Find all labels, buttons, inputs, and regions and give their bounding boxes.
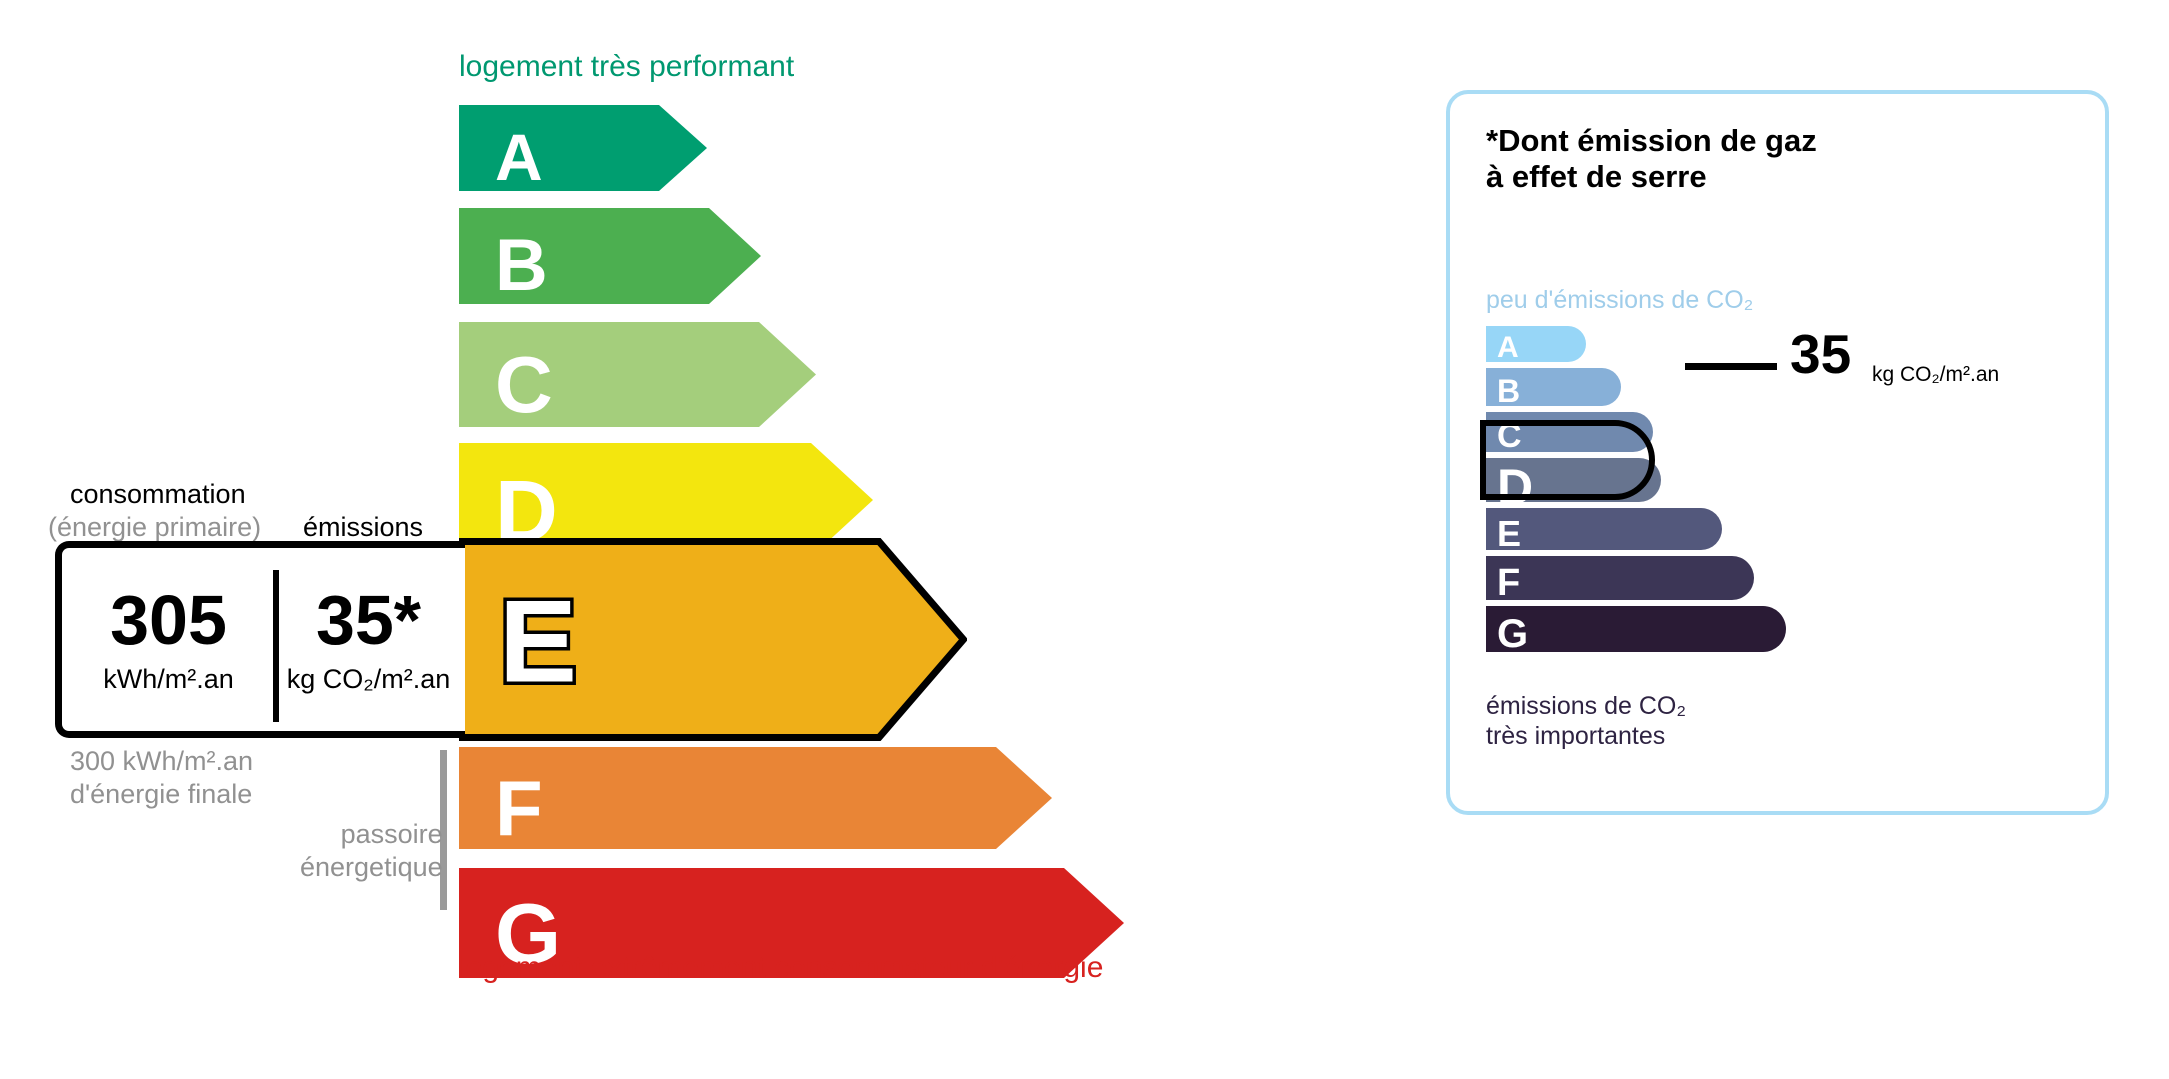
energy-consumption-chart: logement très performant ABCDFG E 305 kW… bbox=[0, 0, 1380, 1079]
co2-callout-unit: kg CO₂/m².an bbox=[1872, 363, 1999, 387]
co2-bar-letter-a: A bbox=[1497, 333, 1519, 363]
co2-callout-leader-line bbox=[1685, 363, 1777, 370]
energy-bar-letter-b: B bbox=[495, 229, 548, 302]
label-consommation: consommation bbox=[70, 479, 246, 510]
co2-bar-row-e: E bbox=[1486, 508, 1722, 550]
co2-bottom-line2: très importantes bbox=[1486, 721, 1686, 751]
co2-bar-row-a: A bbox=[1486, 326, 1586, 362]
energy-bar-row-f: F bbox=[459, 747, 1052, 849]
co2-bar-f bbox=[1486, 556, 1754, 600]
co2-emissions-panel: *Dont émission de gaz à effet de serre p… bbox=[1446, 90, 2109, 815]
co2-top-caption: peu d'émissions de CO₂ bbox=[1486, 286, 1753, 315]
co2-panel-title: *Dont émission de gaz à effet de serre bbox=[1486, 123, 1817, 195]
co2-highlight-outline bbox=[1480, 420, 1655, 500]
co2-bar-row-g: G bbox=[1486, 606, 1786, 652]
co2-bar-letter-e: E bbox=[1497, 516, 1521, 552]
co2-title-line2: à effet de serre bbox=[1486, 159, 1817, 195]
energy-bar-letter-e: E bbox=[499, 576, 577, 707]
energy-bar-row-a: A bbox=[459, 105, 707, 191]
dpe-energy-label: logement très performant ABCDFG E 305 kW… bbox=[0, 0, 2169, 1079]
energy-bar-letter-a: A bbox=[495, 124, 543, 190]
energy-bar-letter-f: F bbox=[495, 769, 543, 847]
energie-finale-line1: 300 kWh/m².an bbox=[70, 745, 253, 778]
co2-bar-letter-b: B bbox=[1497, 375, 1520, 407]
co2-title-line1: *Dont émission de gaz bbox=[1486, 123, 1817, 159]
passoire-line2: énergetique bbox=[300, 851, 443, 884]
co2-value-cell: 35* kg CO₂/m².an bbox=[277, 548, 460, 731]
energy-bar-row-c: C bbox=[459, 322, 816, 427]
co2-bar-row-f: F bbox=[1486, 556, 1754, 600]
energy-bar-letter-c: C bbox=[495, 345, 553, 425]
passoire-line1: passoire bbox=[300, 818, 443, 851]
energy-bar-row-b: B bbox=[459, 208, 761, 304]
co2-bottom-line1: émissions de CO₂ bbox=[1486, 691, 1686, 721]
co2-unit: kg CO₂/m².an bbox=[287, 664, 451, 695]
co2-bottom-caption: émissions de CO₂ très importantes bbox=[1486, 691, 1686, 751]
co2-callout-value: 35 bbox=[1790, 327, 1851, 382]
energie-finale-line2: d'énergie finale bbox=[70, 778, 253, 811]
label-energie-primaire: (énergie primaire) bbox=[48, 512, 261, 543]
co2-number: 35* bbox=[316, 585, 421, 655]
energy-bar-arrow-e-highlighted: E bbox=[459, 538, 967, 741]
energy-bar-row-highlighted: E bbox=[459, 538, 967, 741]
co2-bar-letter-f: F bbox=[1497, 564, 1520, 602]
label-energie-finale: 300 kWh/m².an d'énergie finale bbox=[70, 745, 253, 811]
label-emissions: émissions bbox=[303, 512, 423, 543]
energy-bar-arrow-f bbox=[459, 747, 1052, 849]
value-box-divider bbox=[273, 570, 279, 722]
energy-top-caption: logement très performant bbox=[459, 50, 794, 84]
co2-bar-e bbox=[1486, 508, 1722, 550]
primary-energy-number: 305 bbox=[110, 585, 227, 655]
energy-value-box: 305 kWh/m².an 35* kg CO₂/m².an bbox=[55, 541, 465, 738]
energy-bottom-caption: logement extrêmement consommateur d'éner… bbox=[459, 951, 1103, 985]
primary-energy-value-cell: 305 kWh/m².an bbox=[62, 548, 275, 731]
co2-bar-row-b: B bbox=[1486, 368, 1621, 406]
label-passoire-energetique: passoire énergetique bbox=[300, 818, 443, 884]
primary-energy-unit: kWh/m².an bbox=[103, 664, 234, 695]
co2-bar-g bbox=[1486, 606, 1786, 652]
co2-bar-letter-g: G bbox=[1497, 614, 1528, 654]
